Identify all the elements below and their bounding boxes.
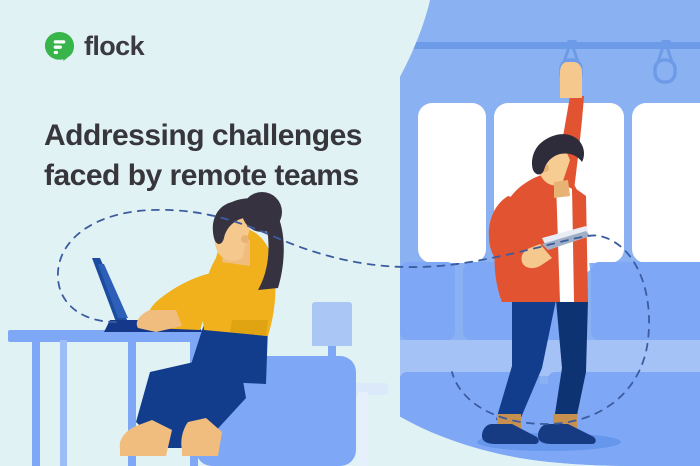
man-neck <box>554 180 570 198</box>
brand-logo[interactable]: flock <box>44 31 144 62</box>
illustration-scene <box>0 0 700 466</box>
flock-marketing-banner: flock Addressing challenges faced by rem… <box>0 0 700 466</box>
headline-line-1: Addressing challenges <box>44 116 404 156</box>
headline-line-2: faced by remote teams <box>44 156 404 196</box>
overhead-rail <box>400 42 700 49</box>
seat-light-band <box>400 340 700 376</box>
page-title: Addressing challenges faced by remote te… <box>44 116 404 195</box>
man-raised-hand <box>560 62 582 98</box>
train-scene-group <box>400 0 700 466</box>
flock-speech-bubble-icon <box>44 31 75 62</box>
brand-name: flock <box>84 33 144 60</box>
man-jacket-front-flap <box>572 186 588 302</box>
